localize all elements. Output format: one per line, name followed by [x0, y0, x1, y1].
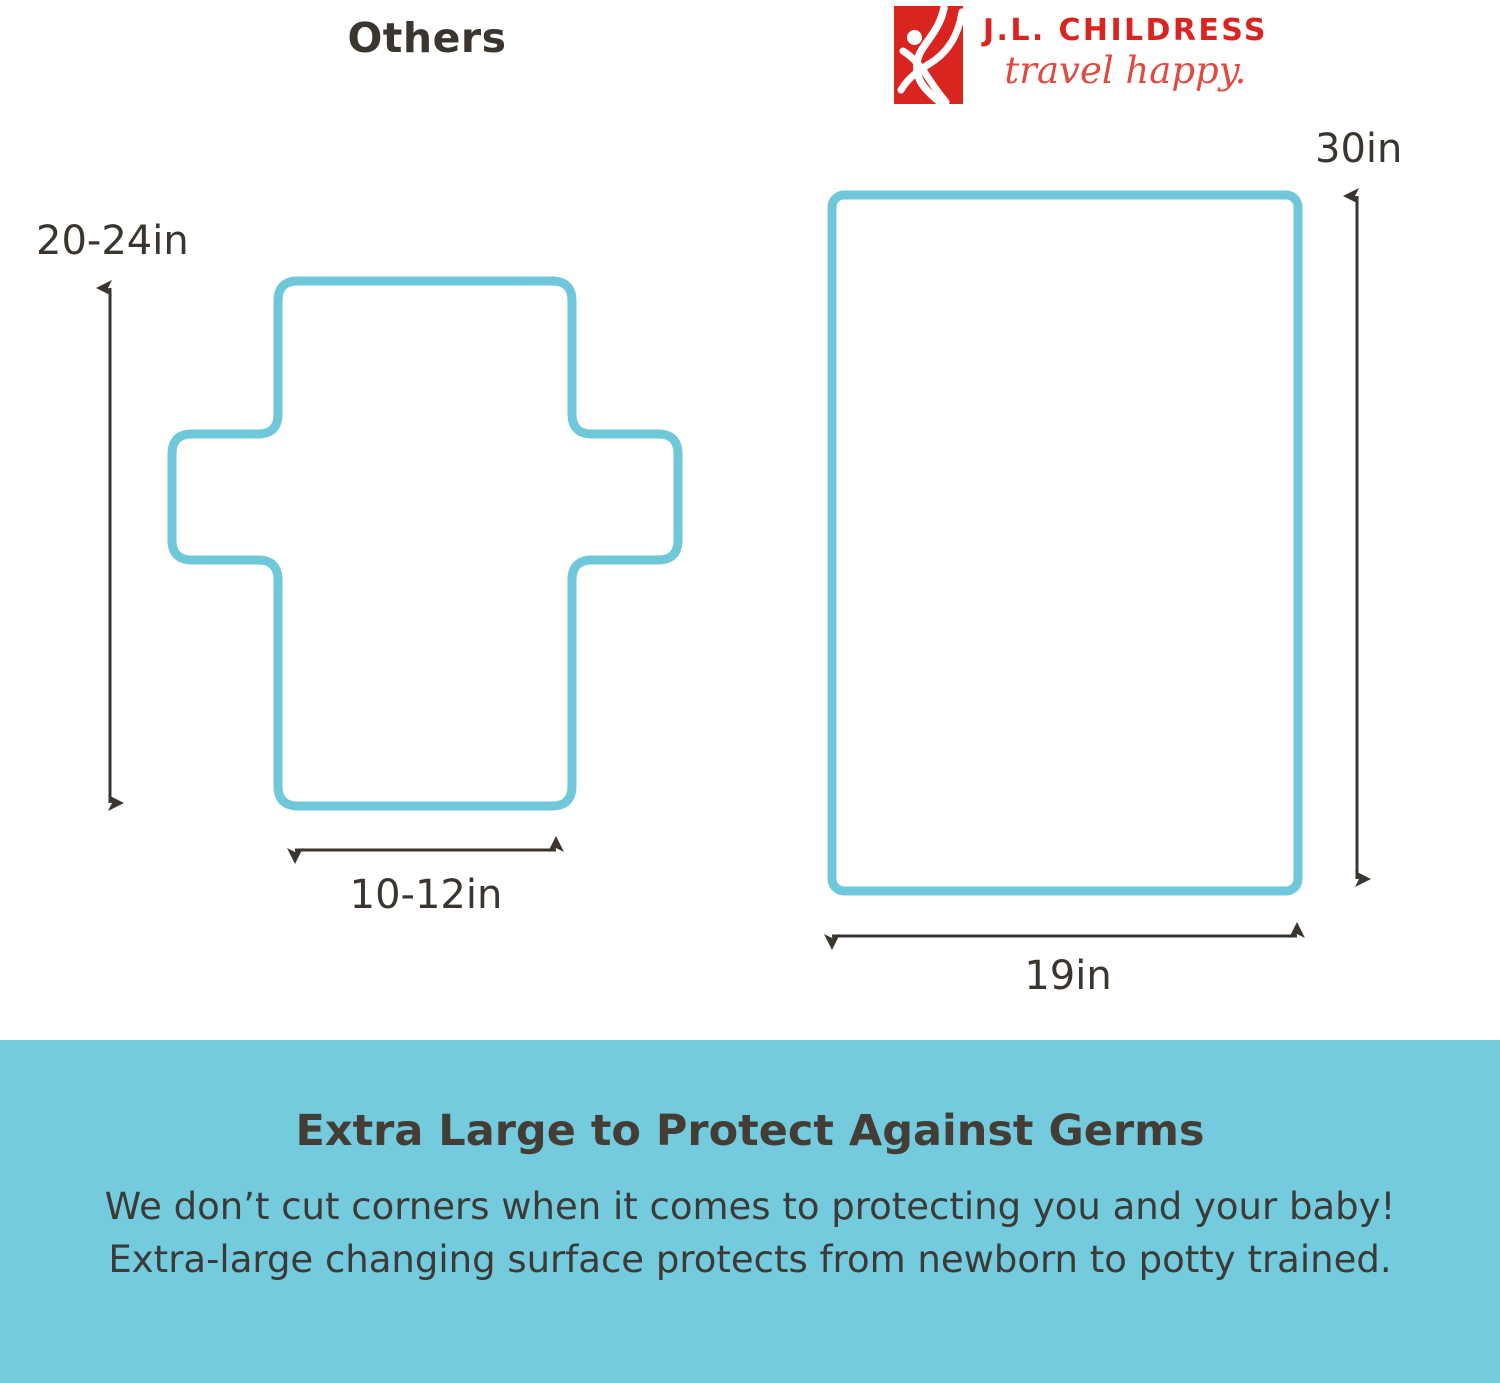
feature-banner-body-line-1: We don’t cut corners when it comes to pr…	[105, 1181, 1396, 1234]
cross-shaped-changing-pad	[172, 281, 678, 806]
diagram-area: Others J.L. CHILDRESS travel happy.	[0, 0, 1500, 1040]
rectangular-changing-pad	[832, 195, 1298, 891]
shapes-layer	[0, 0, 1500, 1040]
feature-banner-body: We don’t cut corners when it comes to pr…	[105, 1181, 1396, 1286]
product-width-label: 19in	[830, 953, 1306, 999]
others-height-label: 20-24in	[36, 218, 189, 264]
others-width-label: 10-12in	[296, 872, 556, 918]
product-infographic: Others J.L. CHILDRESS travel happy.	[0, 0, 1500, 1383]
product-height-label: 30in	[1315, 126, 1402, 172]
feature-banner-body-line-2: Extra-large changing surface protects fr…	[105, 1234, 1396, 1287]
feature-banner-heading: Extra Large to Protect Against Germs	[295, 1108, 1204, 1155]
feature-banner: Extra Large to Protect Against Germs We …	[0, 1040, 1500, 1383]
